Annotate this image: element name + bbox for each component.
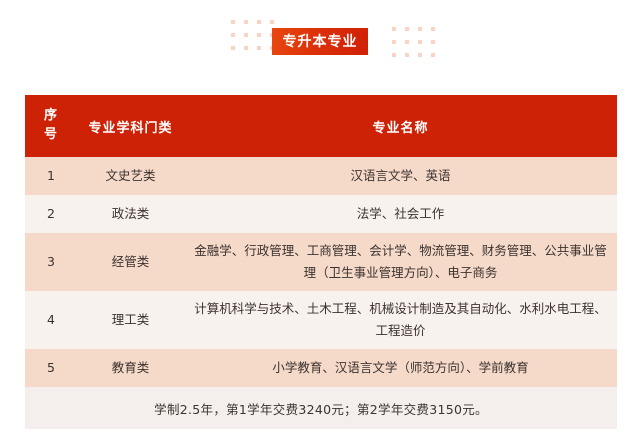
cell-index: 4 <box>25 291 77 349</box>
cell-category: 文史艺类 <box>77 157 184 195</box>
table-row: 1 文史艺类 汉语言文学、英语 <box>25 157 617 195</box>
cell-majors: 小学教育、汉语言文学（师范方向）、学前教育 <box>184 349 617 387</box>
table-header-row: 序 号 专业学科门类 专业名称 <box>25 95 617 157</box>
decorative-dot-grid-right <box>392 27 437 59</box>
table-row: 5 教育类 小学教育、汉语言文学（师范方向）、学前教育 <box>25 349 617 387</box>
table-row: 3 经管类 金融学、行政管理、工商管理、会计学、物流管理、财务管理、公共事业管理… <box>25 233 617 291</box>
table-body: 1 文史艺类 汉语言文学、英语 2 政法类 法学、社会工作 3 经管类 金融学、… <box>25 157 617 387</box>
cell-index: 1 <box>25 157 77 195</box>
table-footer-row: 学制2.5年，第1学年交费3240元；第2学年交费3150元。 <box>25 387 617 429</box>
cell-index: 5 <box>25 349 77 387</box>
table-row: 4 理工类 计算机科学与技术、土木工程、机械设计制造及其自动化、水利水电工程、工… <box>25 291 617 349</box>
table-row: 2 政法类 法学、社会工作 <box>25 195 617 233</box>
cell-majors: 计算机科学与技术、土木工程、机械设计制造及其自动化、水利水电工程、工程造价 <box>184 291 617 349</box>
cell-category: 政法类 <box>77 195 184 233</box>
column-header-index-line2: 号 <box>33 126 69 145</box>
cell-category: 经管类 <box>77 233 184 291</box>
decorative-dot-grid-left <box>231 20 276 52</box>
title-banner: 专升本专业 <box>0 0 640 82</box>
page-title-badge: 专升本专业 <box>272 28 368 55</box>
cell-category: 教育类 <box>77 349 184 387</box>
footer-note: 学制2.5年，第1学年交费3240元；第2学年交费3150元。 <box>25 387 617 429</box>
column-header-majors: 专业名称 <box>184 95 617 157</box>
table-footer: 学制2.5年，第1学年交费3240元；第2学年交费3150元。 <box>25 387 617 429</box>
column-header-index-line1: 序 <box>33 107 69 126</box>
cell-index: 2 <box>25 195 77 233</box>
column-header-index: 序 号 <box>25 95 77 157</box>
cell-majors: 金融学、行政管理、工商管理、会计学、物流管理、财务管理、公共事业管理（卫生事业管… <box>184 233 617 291</box>
table-header: 序 号 专业学科门类 专业名称 <box>25 95 617 157</box>
cell-index: 3 <box>25 233 77 291</box>
cell-category: 理工类 <box>77 291 184 349</box>
page-title: 专升本专业 <box>283 35 358 49</box>
column-header-category: 专业学科门类 <box>77 95 184 157</box>
cell-majors: 法学、社会工作 <box>184 195 617 233</box>
cell-majors: 汉语言文学、英语 <box>184 157 617 195</box>
majors-table: 序 号 专业学科门类 专业名称 1 文史艺类 汉语言文学、英语 2 政法类 法学… <box>25 95 617 429</box>
